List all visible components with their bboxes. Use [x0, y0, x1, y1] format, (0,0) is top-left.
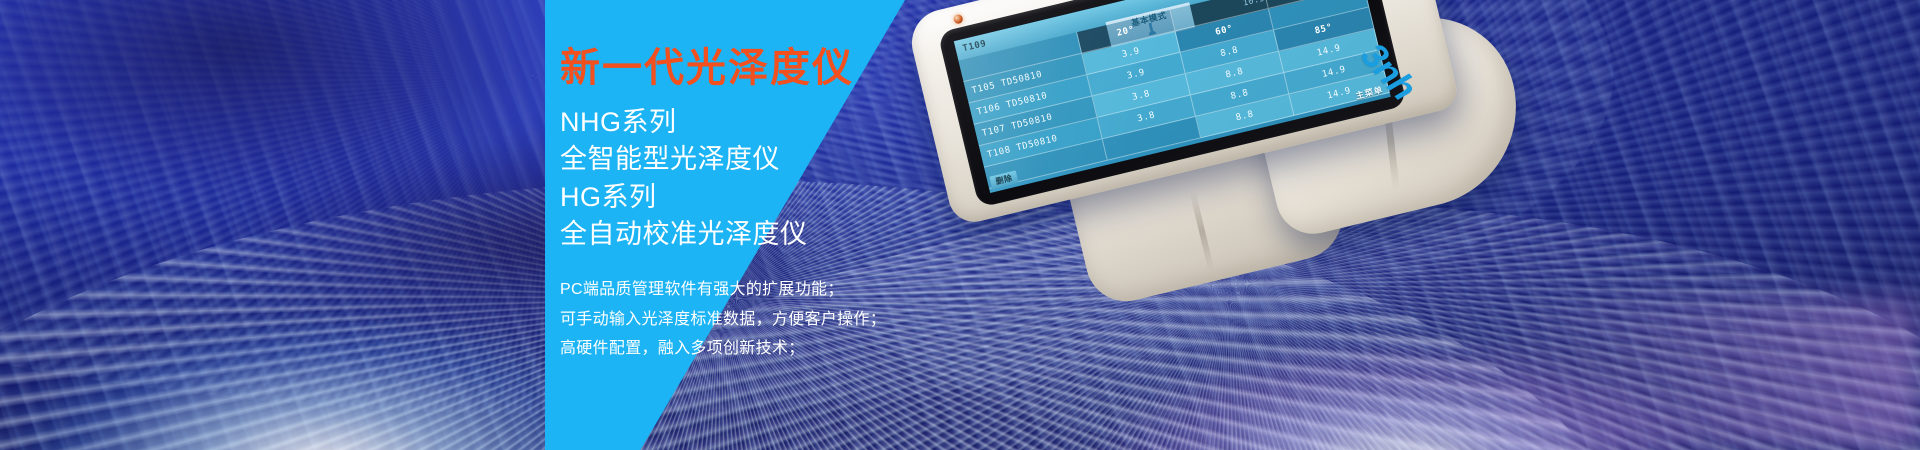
- bullet-item: 高硬件配置，融入多项创新技术；: [560, 334, 1120, 364]
- background-violet-tint: [1190, 297, 1920, 450]
- indicator-led-icon: [953, 14, 964, 25]
- product-banner: 新一代光泽度仪 NHG系列 全智能型光泽度仪 HG系列 全自动校准光泽度仪 PC…: [0, 0, 1920, 450]
